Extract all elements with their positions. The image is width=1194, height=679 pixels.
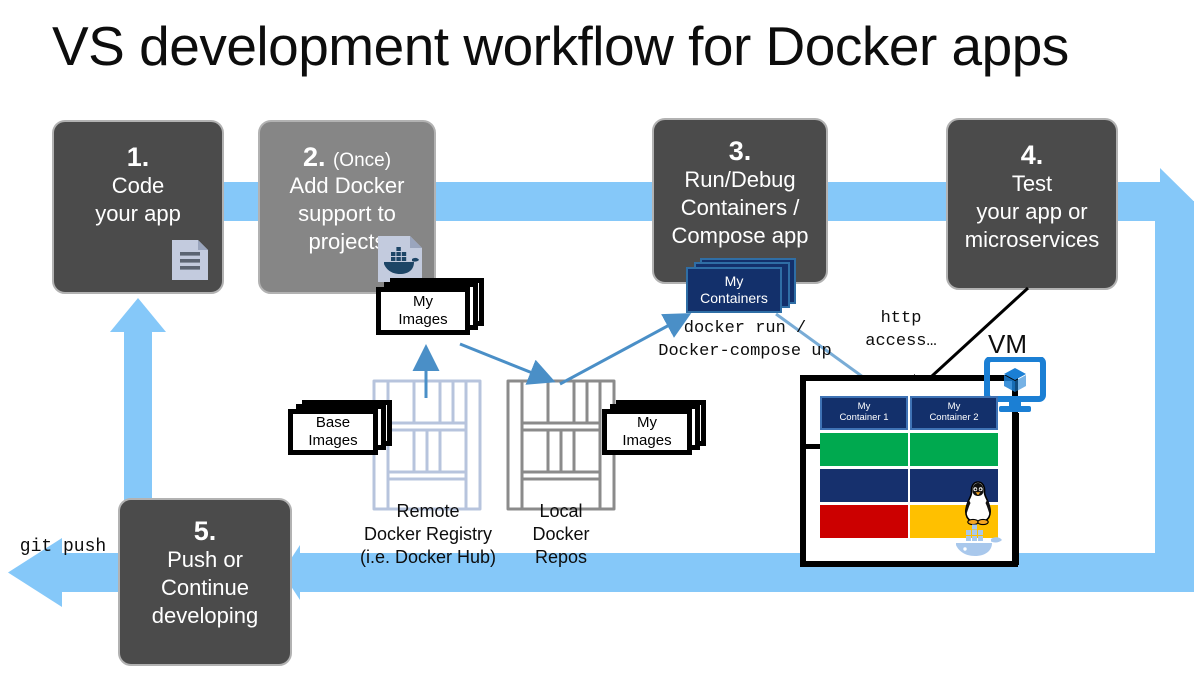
docker-run-line-1: docker run / [650,318,840,341]
my-images-stack-top: My Images [376,278,484,340]
vm-container-2-line-2: Container 2 [929,413,978,424]
local-repos-caption: Local Docker Repos [500,500,622,569]
step-3-number: 3. [729,136,752,166]
my-containers-line-1: My [725,273,744,290]
step-1-line-2: your app [95,200,181,228]
vm-label: VM [988,329,1027,360]
remote-registry-line-2: Docker Registry [348,523,508,546]
vm-container-2-layer-1 [910,433,998,466]
step-2-line-2: support to [298,200,396,228]
step-4-line-3: microservices [965,226,1099,254]
step-2-line-3: projects [308,228,385,256]
local-repos-line-1: Local [500,500,622,523]
step-3-line-2: Containers / [681,194,800,222]
step-4-number: 4. [1021,140,1044,170]
base-images-line-1: Base [316,414,350,432]
step-5-number: 5. [194,516,217,546]
linux-penguin-icon [958,480,998,526]
vm-container-1-layer-2 [820,469,908,502]
remote-registry-caption: Remote Docker Registry (i.e. Docker Hub) [348,500,508,569]
step-5-line-1: Push or [167,546,243,574]
git-push-label: git push [8,535,118,559]
diagram-canvas: VS development workflow for Docker apps … [0,0,1194,679]
my-images-top-line-1: My [413,293,433,311]
step-1-number: 1. [127,142,150,172]
base-images-line-2: Images [308,432,357,450]
my-images-stack-local: My Images [602,400,706,462]
step-2-number: 2. (Once) [303,142,391,172]
step-4-test-your-app[interactable]: 4. Test your app or microservices [946,118,1118,290]
vm-container-1-layer-3 [820,505,908,538]
step-2-add-docker-support[interactable]: 2. (Once) Add Docker support to projects [258,120,436,294]
step-5-line-2: Continue [161,574,249,602]
docker-run-command-label: docker run / Docker-compose up [650,318,840,364]
vm-container-1-layer-1 [820,433,908,466]
docker-file-icon [376,234,424,284]
page-title: VS development workflow for Docker apps [52,10,1152,82]
vm-container-1: My Container 1 [820,396,908,544]
vm-container-2-header: My Container 2 [910,396,998,430]
docker-whale-icon [952,524,1004,558]
step-1-code-your-app[interactable]: 1. Code your app [52,120,224,294]
step-1-line-1: Code [112,172,165,200]
my-images-local-line-1: My [637,414,657,432]
my-images-top-line-2: Images [398,311,447,329]
step-3-line-3: Compose app [672,222,809,250]
vm-container-1-header: My Container 1 [820,396,908,430]
step-2-line-1: Add Docker [290,172,405,200]
docker-run-line-2: Docker-compose up [650,341,840,364]
vm-container-1-line-2: Container 1 [839,413,888,424]
http-access-line-2: access… [846,331,956,354]
local-repos-line-3: Repos [500,546,622,569]
local-repos-line-2: Docker [500,523,622,546]
step-5-push-or-continue[interactable]: 5. Push or Continue developing [118,498,292,666]
my-containers-stack: My Containers [686,258,798,320]
git-push-text: git push [8,535,118,559]
step-2-once-label: (Once) [333,150,391,171]
code-file-icon [170,238,210,282]
base-images-stack: Base Images [288,400,392,462]
step-4-line-2: your app or [976,198,1087,226]
http-access-line-1: http [846,308,956,331]
remote-registry-line-1: Remote [348,500,508,523]
step-5-line-3: developing [152,602,258,630]
my-containers-line-2: Containers [700,290,768,307]
step-2-number-value: 2. [303,142,326,172]
http-access-label: http access… [846,308,956,354]
my-images-local-line-2: Images [622,432,671,450]
step-3-line-1: Run/Debug [684,166,795,194]
remote-registry-line-3: (i.e. Docker Hub) [348,546,508,569]
step-4-line-1: Test [1012,170,1052,198]
